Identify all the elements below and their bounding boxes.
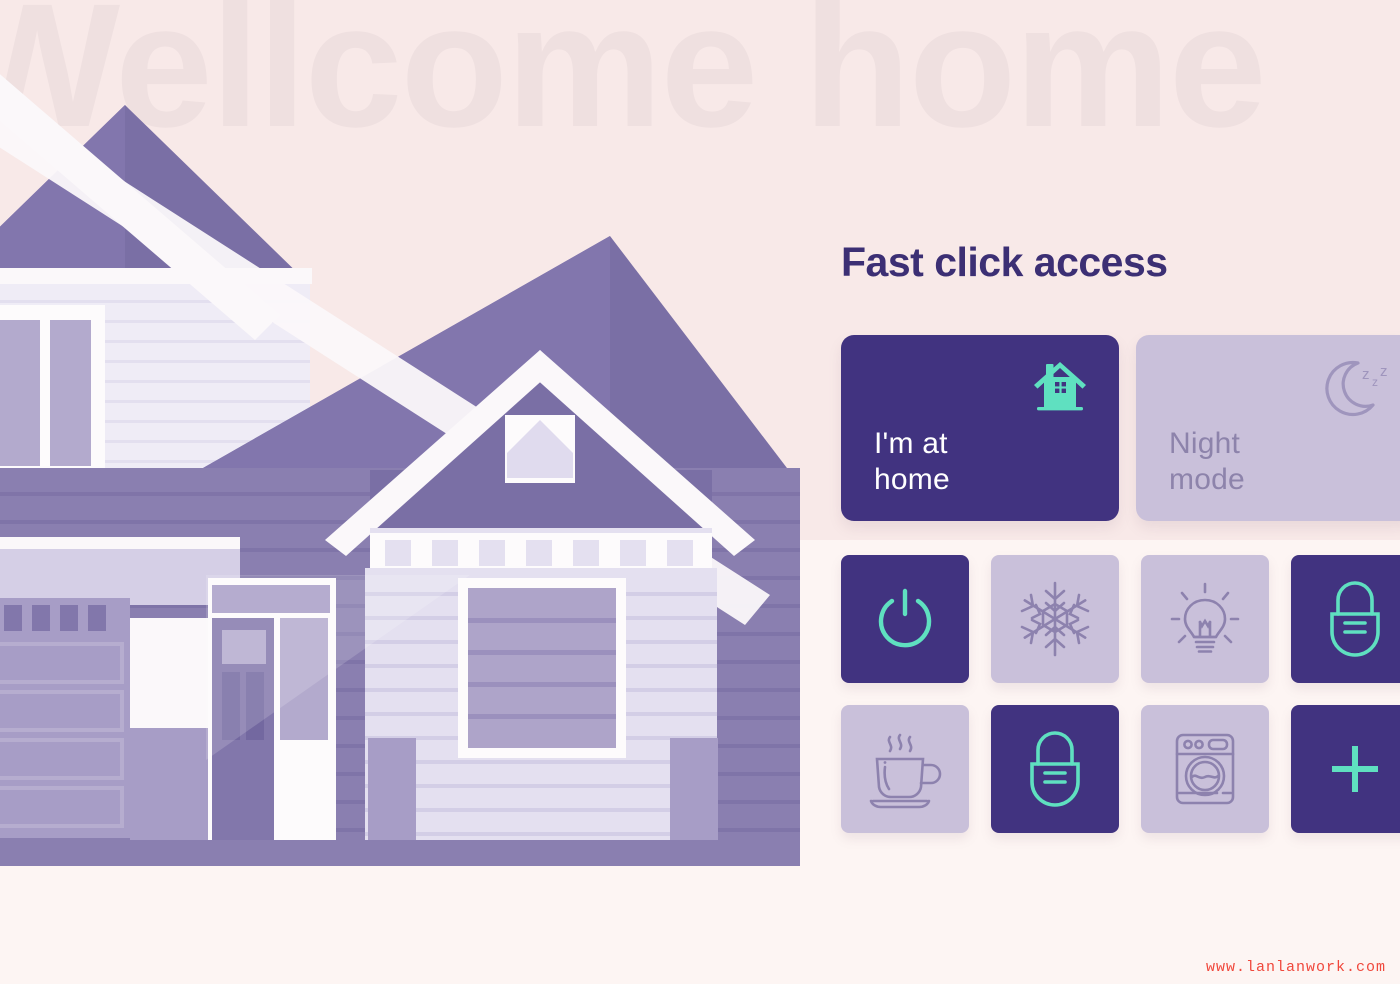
snowflake-icon [1013, 577, 1097, 661]
scene-cards-row: I'm at home z z z Night mode [841, 335, 1400, 521]
plus-icon [1325, 739, 1385, 799]
lock-icon [1320, 578, 1390, 660]
moon-zzz-icon: z z z [1318, 349, 1392, 423]
tile-coffee[interactable] [841, 705, 969, 833]
tile-cooling[interactable] [991, 555, 1119, 683]
scene-card-label: I'm at home [874, 426, 950, 497]
svg-text:z: z [1372, 375, 1378, 389]
scene-card-night-mode[interactable]: z z z Night mode [1136, 335, 1400, 521]
tile-power[interactable] [841, 555, 969, 683]
coffee-cup-icon [863, 729, 947, 809]
lightbulb-icon [1164, 578, 1246, 660]
tile-lock-2[interactable] [991, 705, 1119, 833]
quick-action-tiles [841, 555, 1400, 833]
dashboard-screen: Wellcome home [0, 0, 1400, 984]
watermark: www.lanlanwork.com [1206, 959, 1386, 976]
tile-laundry[interactable] [1141, 705, 1269, 833]
tile-lock-1[interactable] [1291, 555, 1400, 683]
washing-machine-icon [1165, 727, 1245, 811]
house-illustration [0, 0, 800, 880]
lock-icon [1020, 728, 1090, 810]
scene-card-label: Night mode [1169, 426, 1245, 497]
tile-lighting[interactable] [1141, 555, 1269, 683]
home-icon [1029, 357, 1091, 419]
fast-access-panel: Fast click access [841, 240, 1400, 335]
panel-title: Fast click access [841, 240, 1400, 285]
scene-card-im-at-home[interactable]: I'm at home [841, 335, 1119, 521]
svg-text:z: z [1362, 366, 1370, 383]
svg-text:z: z [1380, 363, 1388, 380]
power-icon [867, 581, 943, 657]
tile-add[interactable] [1291, 705, 1400, 833]
